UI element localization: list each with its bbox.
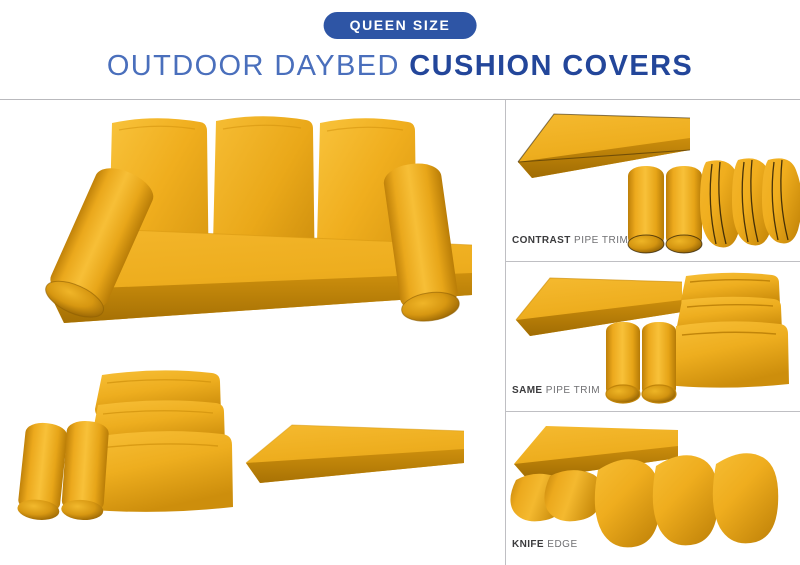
bottom-mattress-cover: [240, 415, 470, 505]
knife-edge-illustration: [510, 418, 798, 548]
knife-pillow-1: [595, 459, 660, 547]
bottom-left-cushion-set: [18, 365, 258, 525]
vertical-divider: [505, 100, 506, 565]
same-bolster-1: [606, 322, 640, 403]
contrast-mattress: [518, 114, 690, 178]
same-pillow-front: [671, 321, 789, 387]
set-bolster-2: [61, 420, 110, 522]
panel-label-contrast-strong: CONTRAST: [512, 235, 571, 246]
panel-divider-1: [505, 261, 800, 262]
page-title-bold: CUSHION COVERS: [409, 50, 693, 82]
panel-label-contrast: CONTRAST PIPE TRIM: [512, 236, 628, 246]
panel-label-knife-strong: KNIFE: [512, 539, 544, 550]
panel-divider-2: [505, 411, 800, 412]
knife-bolster-2: [544, 470, 602, 521]
set-pillow-front: [86, 431, 233, 512]
panel-label-knife-regular: EDGE: [544, 539, 578, 550]
contrast-pillow-3: [762, 158, 800, 243]
panel-knife-edge: [510, 418, 798, 548]
page-title-light: OUTDOOR DAYBED: [107, 50, 400, 82]
cushion-set-illustration: [18, 365, 258, 525]
contrast-bolster-1: [628, 166, 664, 253]
page-title: OUTDOOR DAYBED CUSHION COVERS: [0, 52, 800, 81]
mattress-illustration: [240, 415, 470, 505]
daybed-illustration: [20, 105, 490, 335]
contrast-bolster-2: [666, 166, 702, 253]
main-daybed-scene: [20, 105, 490, 335]
panel-label-same-strong: SAME: [512, 385, 543, 396]
panel-label-knife: KNIFE EDGE: [512, 540, 578, 550]
panel-label-same-regular: PIPE TRIM: [543, 385, 601, 396]
knife-pillow-2: [653, 455, 718, 545]
size-badge: QUEEN SIZE: [324, 12, 477, 39]
same-bolster-2: [642, 322, 676, 403]
header-divider: [0, 99, 800, 100]
infographic-page: QUEEN SIZE OUTDOOR DAYBED CUSHION COVERS: [0, 0, 800, 565]
header: QUEEN SIZE OUTDOOR DAYBED CUSHION COVERS: [0, 0, 800, 100]
set-bolster-1: [16, 421, 68, 522]
contrast-trim-illustration: [510, 104, 798, 254]
panel-contrast-pipe-trim: [510, 104, 798, 254]
knife-pillow-3: [713, 453, 778, 543]
panel-label-contrast-regular: PIPE TRIM: [571, 235, 629, 246]
panel-label-same: SAME PIPE TRIM: [512, 386, 600, 396]
